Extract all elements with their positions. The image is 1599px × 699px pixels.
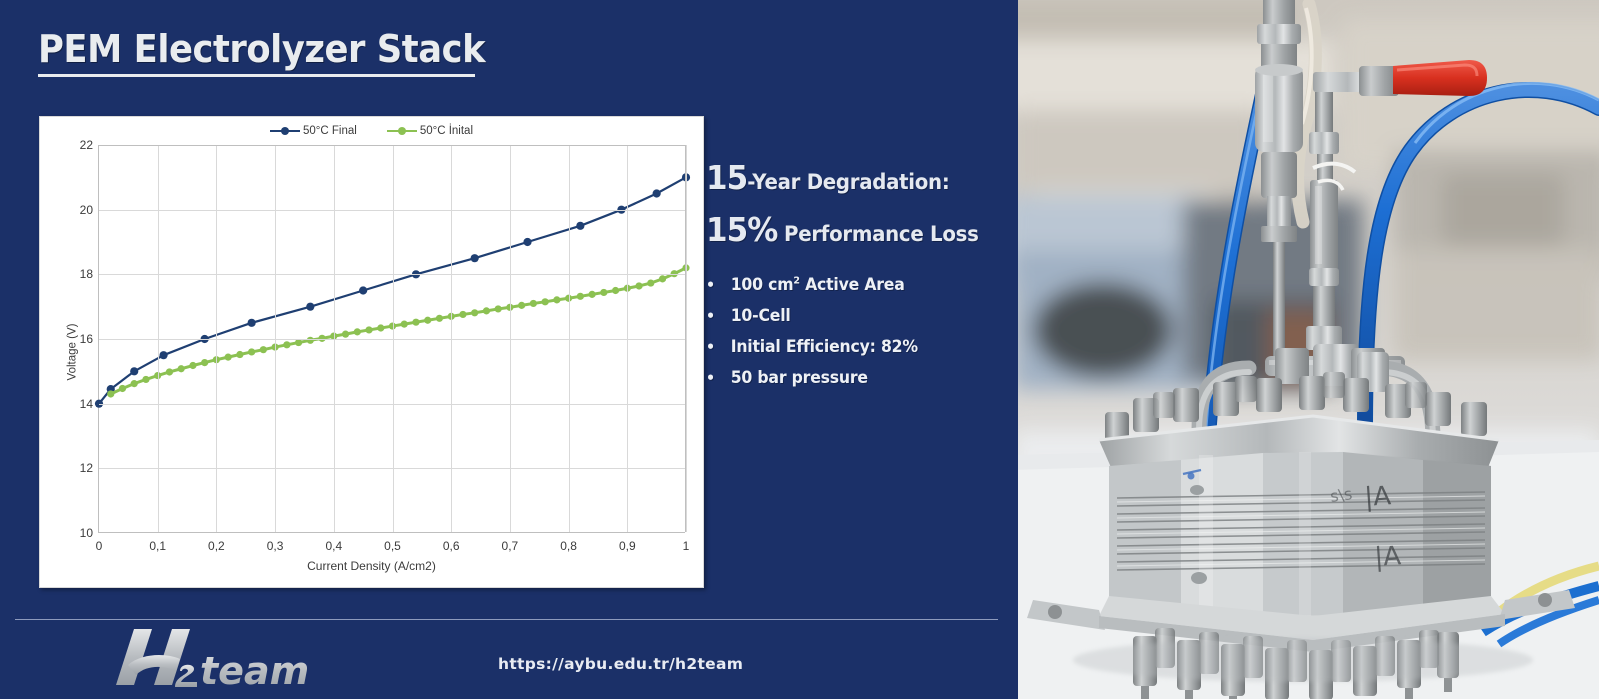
gridline-vertical xyxy=(216,145,217,532)
x-axis-tick-label: 0,7 xyxy=(502,539,519,553)
performance-loss-headline: 15% Performance Loss xyxy=(706,210,988,249)
data-point xyxy=(159,351,167,359)
performance-loss-value: 15% xyxy=(706,210,777,249)
data-point xyxy=(401,321,408,328)
performance-loss-label: Performance Loss xyxy=(777,222,978,246)
data-point xyxy=(523,238,531,246)
data-point xyxy=(659,275,666,282)
data-point xyxy=(166,368,173,375)
gridline-vertical xyxy=(569,145,570,532)
y-axis-tick-label: 18 xyxy=(80,267,93,281)
x-axis-tick-label: 0 xyxy=(96,539,103,553)
data-point xyxy=(553,296,560,303)
data-point xyxy=(248,348,255,355)
x-axis-tick-label: 1 xyxy=(683,539,690,553)
bullet-dot-icon: • xyxy=(706,371,731,386)
info-block: 15-Year Degradation: 15% Performance Los… xyxy=(706,158,1006,399)
data-point xyxy=(307,337,314,344)
degradation-years-value: 15 xyxy=(706,158,747,197)
data-point xyxy=(131,380,138,387)
site-url[interactable]: https://aybu.edu.tr/h2team xyxy=(498,655,743,673)
chart-series-initial xyxy=(107,264,689,397)
y-axis-tick-label: 22 xyxy=(80,138,93,152)
list-item: •Initial Efficiency: 82% xyxy=(706,337,991,356)
x-axis-tick-label: 0,1 xyxy=(149,539,166,553)
footer-divider xyxy=(15,619,998,620)
data-point xyxy=(647,279,654,286)
plot-frame-right xyxy=(685,145,686,532)
data-point xyxy=(530,300,537,307)
svg-text:|A: |A xyxy=(1363,481,1392,513)
data-point xyxy=(142,376,149,383)
y-axis-tick-label: 14 xyxy=(80,397,93,411)
data-point xyxy=(225,354,232,361)
h2team-logo: team xyxy=(108,627,318,691)
data-point xyxy=(600,289,607,296)
svg-text:s\s: s\s xyxy=(1329,484,1353,506)
data-point xyxy=(359,286,367,294)
data-point xyxy=(483,307,490,314)
gridline-vertical xyxy=(627,145,628,532)
data-point xyxy=(577,293,584,300)
data-point xyxy=(119,385,126,392)
electrolyzer-photo: |A |A s\s xyxy=(1013,0,1599,699)
gridline-vertical xyxy=(275,145,276,532)
superscript: 2 xyxy=(793,276,799,287)
data-point xyxy=(588,291,595,298)
spec-bullet-list: •100 cm2 Active Area•10-Cell•Initial Eff… xyxy=(706,275,1006,387)
page-title: PEM Electrolyzer Stack xyxy=(38,30,485,70)
x-axis-tick-label: 0,4 xyxy=(325,539,342,553)
degradation-years-label: -Year Degradation: xyxy=(747,170,949,194)
title-wrap: PEM Electrolyzer Stack xyxy=(38,30,519,77)
list-item-label: 50 bar pressure xyxy=(731,368,868,387)
y-axis-tick-label: 10 xyxy=(80,526,93,540)
data-point xyxy=(248,319,256,327)
data-point xyxy=(495,305,502,312)
gridline-vertical xyxy=(510,145,511,532)
x-axis-title: Current Density (A/cm2) xyxy=(40,559,703,573)
data-point xyxy=(459,311,466,318)
x-axis-tick-label: 0,5 xyxy=(384,539,401,553)
data-point xyxy=(612,287,619,294)
data-point xyxy=(436,315,443,322)
x-axis-tick-label: 0,8 xyxy=(560,539,577,553)
svg-text:team: team xyxy=(200,649,309,691)
list-item: •100 cm2 Active Area xyxy=(706,275,991,294)
chart-card: 50°C Final 50°C İnital Voltage (V) Curre… xyxy=(39,116,704,588)
x-axis-tick-label: 0,6 xyxy=(443,539,460,553)
data-point xyxy=(283,341,290,348)
data-point xyxy=(653,189,661,197)
data-point xyxy=(354,328,361,335)
y-axis-tick-label: 16 xyxy=(80,332,93,346)
bullet-dot-icon: • xyxy=(706,278,731,293)
y-axis-tick-label: 20 xyxy=(80,203,93,217)
list-item: •50 bar pressure xyxy=(706,368,991,387)
data-point xyxy=(189,362,196,369)
list-item-label: Initial Efficiency: 82% xyxy=(731,337,918,356)
plot-frame-top xyxy=(99,145,685,146)
x-axis-tick-label: 0,2 xyxy=(208,539,225,553)
data-point xyxy=(471,309,478,316)
data-point xyxy=(236,351,243,358)
left-panel: PEM Electrolyzer Stack 50°C Final 50°C İ… xyxy=(0,0,1013,699)
data-point xyxy=(518,302,525,309)
list-item-label: 10-Cell xyxy=(731,306,791,325)
x-axis-tick-label: 0,9 xyxy=(619,539,636,553)
gridline-vertical xyxy=(451,145,452,532)
plot-area: 2220181614121000,10,20,30,40,50,60,70,80… xyxy=(98,145,685,533)
svg-text:|A: |A xyxy=(1373,541,1402,573)
data-point xyxy=(306,303,314,311)
title-underline xyxy=(38,74,475,77)
data-point xyxy=(342,331,349,338)
data-point xyxy=(107,390,114,397)
plot-wrapper: Voltage (V) Current Density (A/cm2) 2220… xyxy=(40,117,703,587)
data-point xyxy=(377,324,384,331)
data-point xyxy=(576,222,584,230)
bullet-dot-icon: • xyxy=(706,309,731,324)
list-item-label: 100 cm2 Active Area xyxy=(731,275,905,294)
data-point xyxy=(178,365,185,372)
data-point xyxy=(471,254,479,262)
data-point xyxy=(424,317,431,324)
gridline-vertical xyxy=(393,145,394,532)
data-point xyxy=(260,346,267,353)
y-axis-title: Voltage (V) xyxy=(66,324,78,381)
x-axis-tick-label: 0,3 xyxy=(267,539,284,553)
data-point xyxy=(130,367,138,375)
data-point xyxy=(412,319,419,326)
gridline-vertical xyxy=(334,145,335,532)
data-point xyxy=(201,359,208,366)
y-axis-tick-label: 12 xyxy=(80,461,93,475)
degradation-headline: 15-Year Degradation: xyxy=(706,158,988,197)
data-point xyxy=(635,282,642,289)
slide: PEM Electrolyzer Stack 50°C Final 50°C İ… xyxy=(0,0,1599,699)
gridline-vertical xyxy=(158,145,159,532)
list-item: •10-Cell xyxy=(706,306,991,325)
data-point xyxy=(295,339,302,346)
gridline-vertical xyxy=(686,145,687,532)
data-point xyxy=(365,326,372,333)
data-point xyxy=(542,298,549,305)
bullet-dot-icon: • xyxy=(706,340,731,355)
